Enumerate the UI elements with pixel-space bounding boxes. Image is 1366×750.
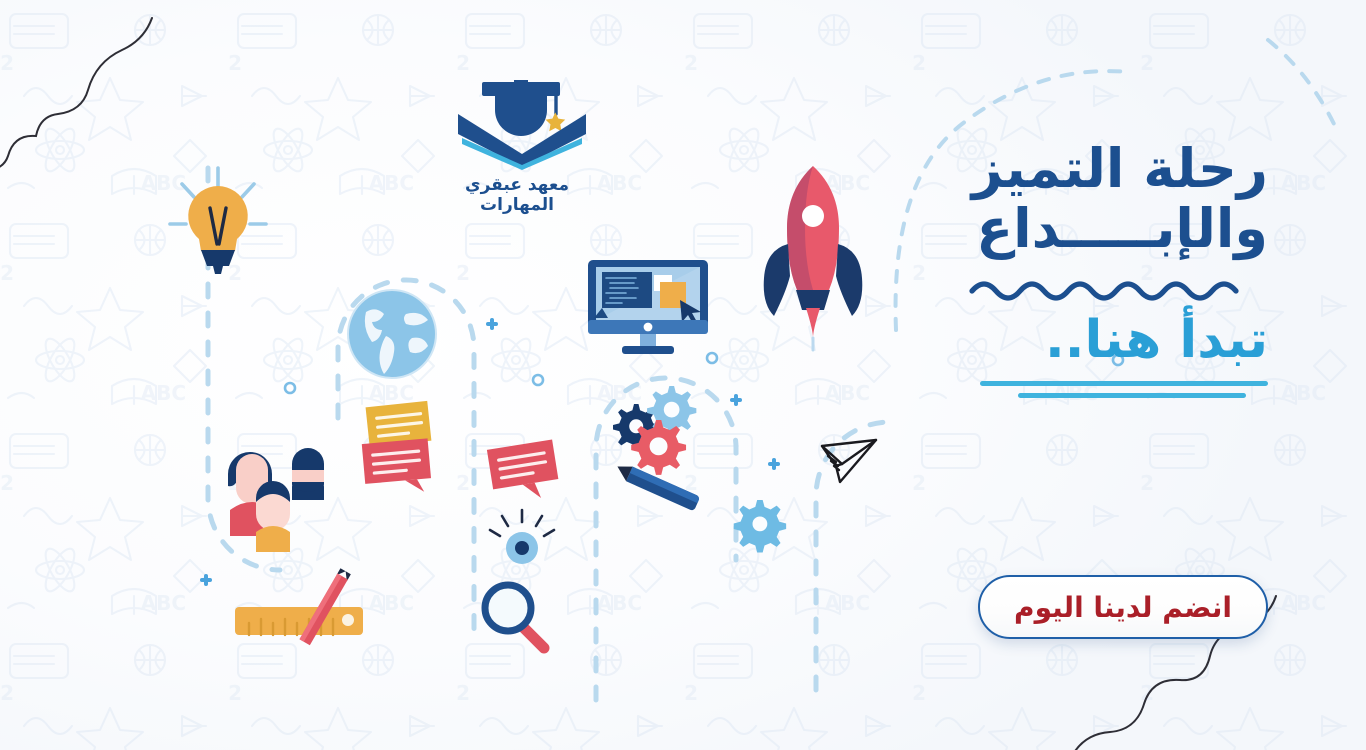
speech-bubble-red-icon — [360, 437, 436, 499]
magnifier-icon — [478, 578, 554, 656]
person-back-right — [292, 448, 324, 500]
plus-mark-3b — [204, 574, 208, 586]
rocket-icon — [758, 162, 868, 342]
lightbulb-icon — [166, 162, 270, 290]
headline-line-1: رحلة التميز — [908, 140, 1268, 198]
monitor-icon — [586, 258, 710, 356]
headline-line-2: والإبـــــداع — [908, 200, 1268, 258]
plus-mark-1b — [490, 318, 494, 330]
pencil-icon — [286, 560, 364, 658]
paper-plane-icon — [818, 434, 882, 490]
brand-name: معهد عبقري المهارات — [432, 175, 602, 215]
person-yellow — [256, 481, 290, 552]
plus-mark-4b — [772, 458, 776, 470]
headline-subtitle: تبدأ هنا.. — [908, 313, 1268, 368]
rule-top — [980, 381, 1268, 386]
pen-icon — [608, 460, 704, 516]
headline-rules — [908, 381, 1268, 403]
rule-bottom — [1018, 393, 1246, 398]
gear-single-icon — [736, 500, 788, 552]
join-us-button[interactable]: انضم لدينا اليوم — [978, 575, 1268, 639]
plus-mark-2b — [734, 394, 738, 406]
wavy-underline-icon — [968, 275, 1268, 301]
eye-icon — [488, 508, 556, 568]
headline-block: رحلة التميز والإبـــــداع تبدأ هنا.. — [908, 140, 1268, 403]
speech-bubble-red-2-icon — [487, 440, 565, 506]
join-us-button-label: انضم لدينا اليوم — [1014, 591, 1232, 624]
brand-logo[interactable]: معهد عبقري المهارات — [432, 66, 602, 215]
banner-canvas: ABC 1+2=3 — [0, 0, 1366, 750]
ring-mark-1 — [285, 383, 295, 393]
people-group-icon — [222, 448, 324, 552]
ring-mark-4 — [533, 375, 543, 385]
globe-icon — [344, 286, 440, 382]
graduation-cap-book-icon — [442, 66, 602, 171]
